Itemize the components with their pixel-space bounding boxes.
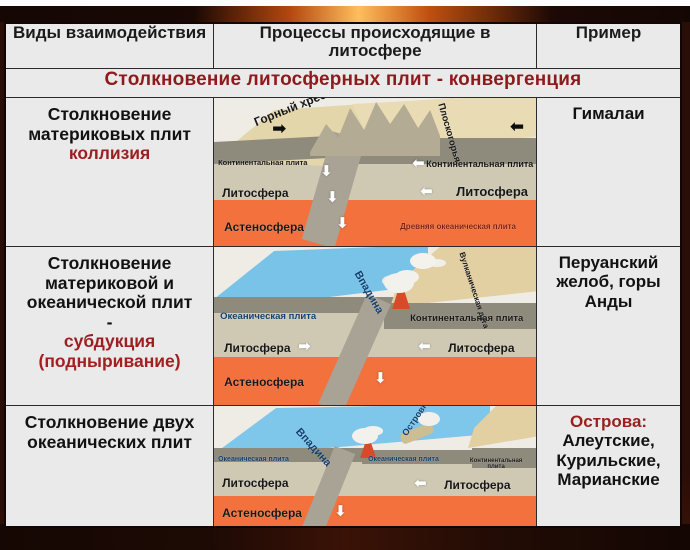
label-oceanic-plate-right: Океаническая плита xyxy=(368,456,439,463)
collision-diagram: Горный хребет Плоскогорья Континентальна… xyxy=(214,98,536,246)
slide-canvas: Виды взаимодействия Процессы происходящи… xyxy=(0,0,690,550)
eruption-plume-icon-2 xyxy=(410,253,436,269)
row2-type-text: Столкновение материковой и океанической … xyxy=(6,247,213,372)
table-row: Столкновение материковой и океанической … xyxy=(5,247,681,406)
row3-type-cell: Столкновение двух океанических плит xyxy=(5,406,214,528)
row2-type-dash: - xyxy=(12,313,207,333)
header-cell-types: Виды взаимодействия xyxy=(5,23,214,69)
lithosphere-arrow-icon-2: ⬅ xyxy=(420,184,433,199)
row2-diagram-cell: Впадина Вулканическая дуга Океаническая … xyxy=(214,247,537,406)
label-lithosphere-right: Литосфера xyxy=(448,341,514,355)
plate-motion-arrow-icon-right: ➡ xyxy=(298,339,311,354)
label-lithosphere-right: Литосфера xyxy=(456,184,528,199)
row1-example-text: Гималаи xyxy=(537,98,680,123)
row3-example-value: Алеутские, Курильские, Марианские xyxy=(540,431,677,489)
label-ancient-oceanic-plate: Древняя океаническая плита xyxy=(400,222,516,231)
plate-motion-arrow-icon-left: ⬅ xyxy=(414,476,427,491)
row1-type-main: Столкновение материковых плит xyxy=(12,105,207,144)
eruption-plume-icon xyxy=(384,273,414,293)
table-banner-row: Столкновение литосферных плит - конверге… xyxy=(5,69,681,98)
slab-arrow-icon-2: ⬇ xyxy=(326,190,339,205)
convergence-banner: Столкновение литосферных плит - конверге… xyxy=(5,69,681,98)
top-white-strip xyxy=(0,0,690,6)
row1-example-value: Гималаи xyxy=(540,104,677,123)
label-asthenosphere: Астеносфера xyxy=(222,506,302,520)
row2-example-cell: Перуанский желоб, горы Анды xyxy=(537,247,681,406)
row2-type-cell: Столкновение материковой и океанической … xyxy=(5,247,214,406)
table-row: Столкновение двух океанических плит xyxy=(5,406,681,528)
row1-example-cell: Гималаи xyxy=(537,98,681,247)
row3-example-accent: Острова: xyxy=(540,412,677,431)
row3-type-main: Столкновение двух океанических плит xyxy=(12,413,207,452)
slab-arrow-icon-3: ⬇ xyxy=(336,216,349,231)
plate-interaction-table: Виды взаимодействия Процессы происходящи… xyxy=(4,22,682,528)
label-asthenosphere: Астеносфера xyxy=(224,220,304,234)
label-lithosphere-left: Литосфера xyxy=(224,341,290,355)
table-header-row: Виды взаимодействия Процессы происходящи… xyxy=(5,23,681,69)
row3-type-text: Столкновение двух океанических плит xyxy=(6,406,213,452)
table-row: Столкновение материковых плит коллизия Г… xyxy=(5,98,681,247)
row3-example-cell: Острова: Алеутские, Курильские, Марианск… xyxy=(537,406,681,528)
eruption-plume-icon xyxy=(352,428,378,444)
row1-type-text: Столкновение материковых плит коллизия xyxy=(6,98,213,164)
label-oceanic-plate-left: Океаническая плита xyxy=(218,456,289,463)
row1-type-cell: Столкновение материковых плит коллизия xyxy=(5,98,214,247)
row3-example-text: Острова: Алеутские, Курильские, Марианск… xyxy=(537,406,680,490)
label-lithosphere-left: Литосфера xyxy=(222,186,288,200)
lithosphere-arrow-icon-1: ⬅ xyxy=(412,156,425,171)
label-continental-plate: Континентальная плита xyxy=(410,313,523,324)
subduction-diagram: Впадина Вулканическая дуга Океаническая … xyxy=(214,247,536,405)
row2-type-sub: (подныривание) xyxy=(12,352,207,372)
slab-arrow-icon-1: ⬇ xyxy=(320,164,333,179)
right-convergence-arrow-icon: ⬅ xyxy=(510,118,524,135)
header-cell-example: Пример xyxy=(537,23,681,69)
row2-type-accent: субдукция xyxy=(12,332,207,352)
left-convergence-arrow-icon: ➡ xyxy=(272,120,286,137)
row1-diagram-cell: Горный хребет Плоскогорья Континентальна… xyxy=(214,98,537,247)
header-cell-processes: Процессы происходящие в литосфере xyxy=(214,23,537,69)
label-lithosphere-right: Литосфера xyxy=(444,478,510,492)
slab-descent-arrow-icon: ⬇ xyxy=(334,504,347,519)
slab-descent-arrow-icon: ⬇ xyxy=(374,371,387,386)
row1-type-accent: коллизия xyxy=(12,144,207,164)
row2-example-text: Перуанский желоб, горы Анды xyxy=(537,247,680,311)
row2-type-main: Столкновение материковой и океанической … xyxy=(12,254,207,313)
plate-motion-arrow-icon-left: ⬅ xyxy=(418,339,431,354)
row3-diagram-cell: Впадина Островная дуга Океаническая плит… xyxy=(214,406,537,528)
label-asthenosphere: Астеносфера xyxy=(224,375,304,389)
label-continental-plate-left: Континентальная плита xyxy=(218,158,307,167)
row2-example-value: Перуанский желоб, горы Анды xyxy=(540,253,677,311)
island-arc-diagram: Впадина Островная дуга Океаническая плит… xyxy=(214,406,536,526)
label-continental-plate-right: Континентальная плита xyxy=(426,159,533,169)
label-continental-plate: Континентальная плита xyxy=(466,458,526,470)
label-lithosphere-left: Литосфера xyxy=(222,476,288,490)
label-oceanic-plate: Океаническая плита xyxy=(220,311,316,322)
